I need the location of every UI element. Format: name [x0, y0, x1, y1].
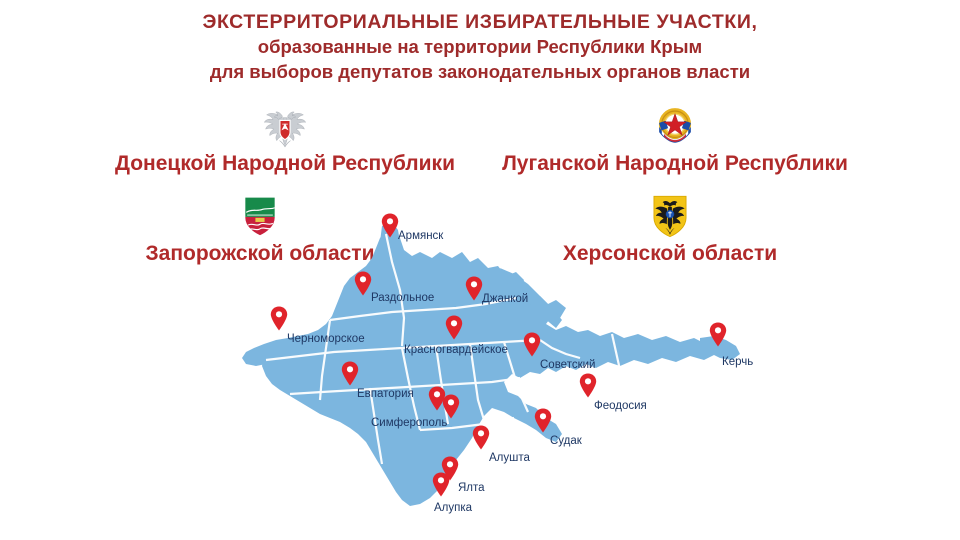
map-pin-feodosiya[interactable] — [579, 373, 597, 398]
map-pin-sovetskiy[interactable] — [523, 332, 541, 357]
city-label-alupka: Алупка — [434, 502, 472, 514]
map-pin-kerch[interactable] — [709, 322, 727, 347]
crimea-map-svg — [0, 0, 960, 540]
map-pin-dzhankoi[interactable] — [465, 276, 483, 301]
map-pin-alushta[interactable] — [472, 425, 490, 450]
map-pin-armyansk[interactable] — [381, 213, 399, 238]
map-pin-krasnogvardeyskoe[interactable] — [445, 315, 463, 340]
city-label-armyansk: Армянск — [398, 230, 443, 242]
map-pin-alupka[interactable] — [432, 472, 450, 497]
map-pin-chernomorskoe[interactable] — [270, 306, 288, 331]
city-label-sovetskiy: Советский — [540, 359, 595, 371]
infographic-page: ЭКСТЕРРИТОРИАЛЬНЫЕ ИЗБИРАТЕЛЬНЫЕ УЧАСТКИ… — [0, 0, 960, 540]
map-pin-razdolnoe[interactable] — [354, 271, 372, 296]
city-label-razdolnoe: Раздольное — [371, 292, 434, 304]
city-label-kerch: Керчь — [722, 356, 753, 368]
map-pin-evpatoriya[interactable] — [341, 361, 359, 386]
city-label-dzhankoi: Джанкой — [482, 293, 528, 305]
city-label-simferopol: Симферополь — [371, 417, 447, 429]
crimea-map — [0, 0, 960, 540]
city-label-feodosiya: Феодосия — [594, 400, 647, 412]
city-label-evpatoriya: Евпатория — [357, 388, 414, 400]
city-label-chernomorskoe: Черноморское — [287, 333, 365, 345]
map-pin-sudak[interactable] — [534, 408, 552, 433]
map-pin-simferopol-secondary[interactable] — [442, 394, 460, 419]
city-label-alushta: Алушта — [489, 452, 530, 464]
city-label-sudak: Судак — [550, 435, 582, 447]
city-label-krasnogvardeyskoe: Красногвардейское — [404, 344, 508, 356]
city-label-yalta: Ялта — [458, 482, 485, 494]
